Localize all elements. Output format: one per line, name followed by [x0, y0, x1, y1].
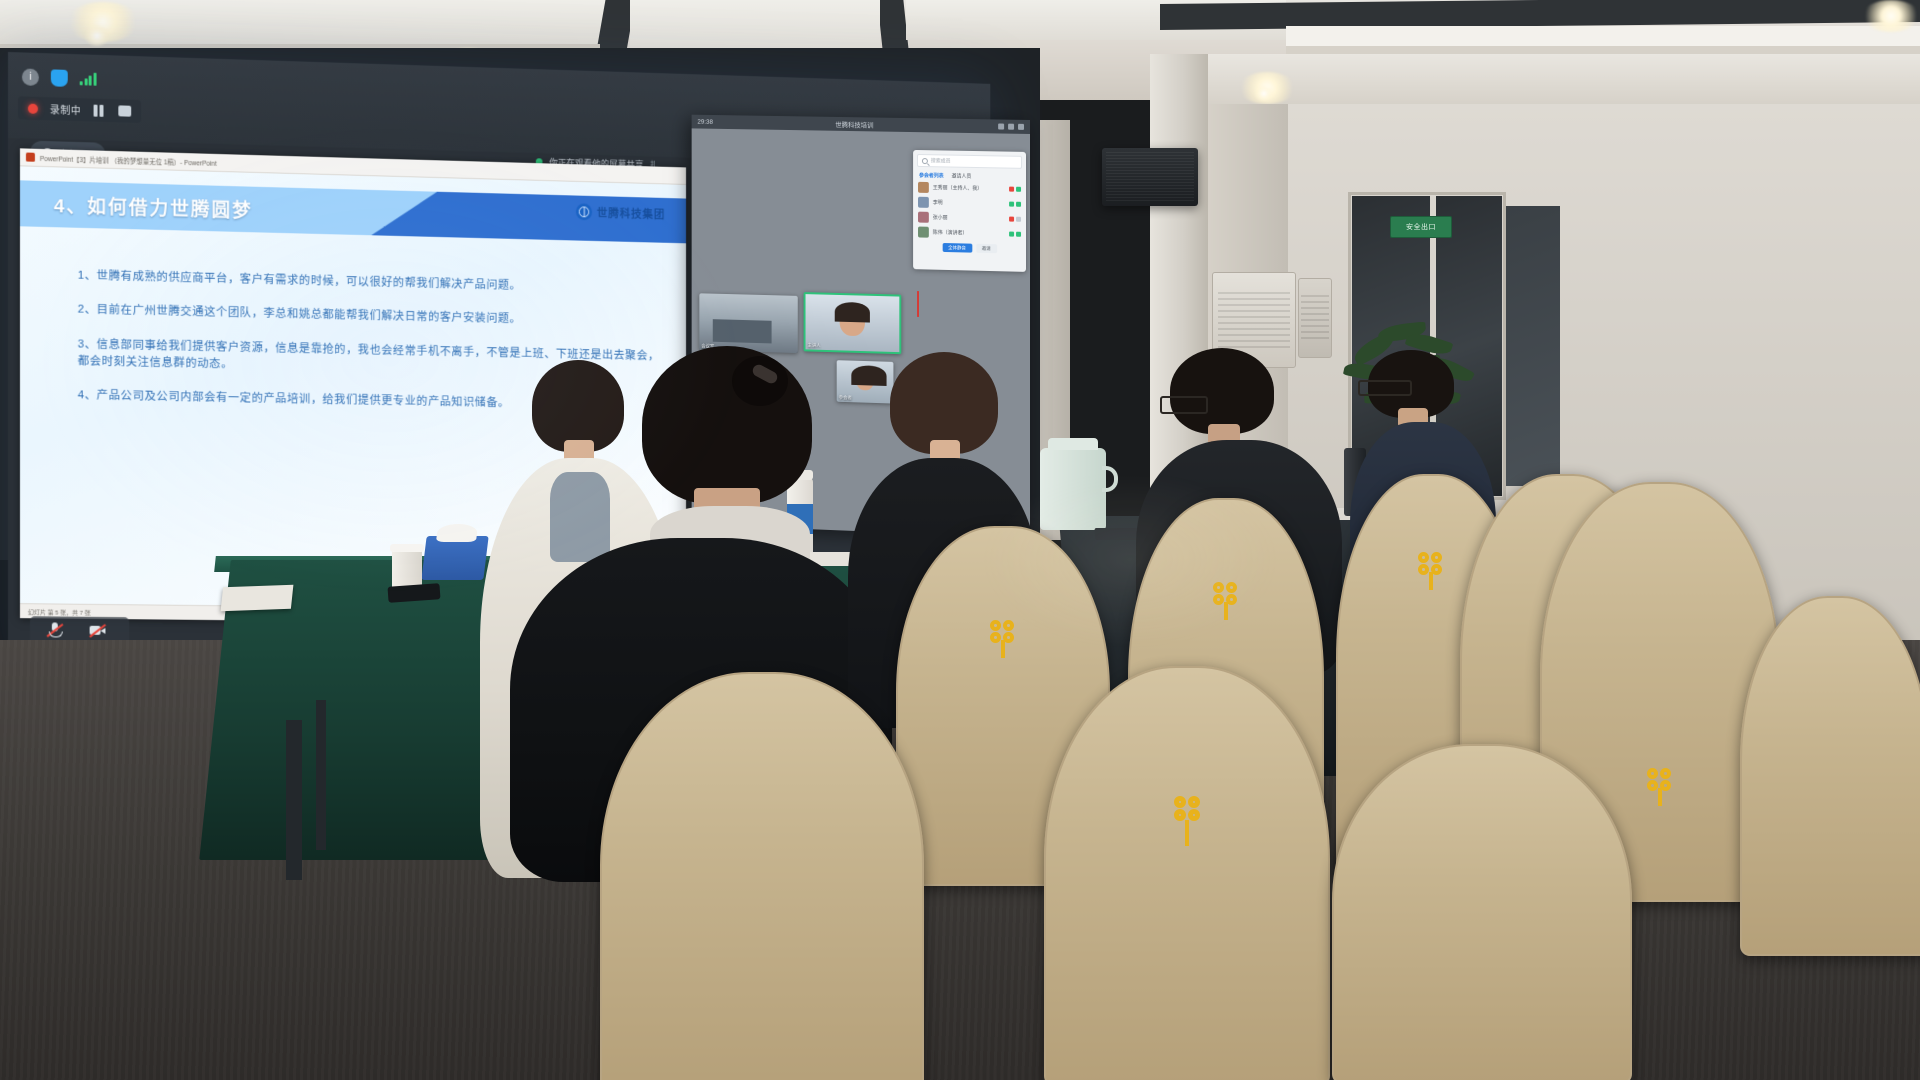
exit-sign-label: 安全出口	[1406, 222, 1436, 232]
participant-name: 李明	[933, 199, 1005, 207]
banquet-chair[interactable]	[1332, 744, 1632, 1080]
wall-speaker	[1102, 148, 1198, 206]
slide-title: 4、如何借力世腾圆梦	[54, 191, 253, 223]
ceiling-downlight	[1862, 0, 1920, 32]
company-logo: 世腾科技集团	[576, 203, 665, 222]
ceiling-beam	[877, 0, 908, 50]
mic-on-icon	[1009, 232, 1014, 237]
mic-muted-icon	[1009, 217, 1014, 222]
meeting-timer: 29:38	[697, 118, 713, 125]
meeting-topic: 世腾科技培训	[835, 119, 873, 130]
ceiling-trim	[1286, 26, 1920, 48]
participant-status-icons	[1009, 202, 1021, 207]
thermos-flask	[1040, 448, 1106, 530]
air-conditioner	[1298, 278, 1332, 358]
conference-room-photo: 安全出口 i 录制中	[0, 0, 1920, 1080]
exit-sign: 安全出口	[1390, 216, 1452, 238]
mic-on-icon	[1009, 202, 1014, 207]
share-border-indicator	[917, 291, 919, 317]
avatar	[918, 227, 929, 238]
slide-counter: 幻灯片 第 5 张，共 7 张	[28, 607, 91, 617]
stop-icon[interactable]	[118, 105, 131, 116]
camera-on-icon	[1016, 232, 1021, 237]
powerpoint-window-title: PowerPoint【3】片培训 （我的梦想量无位 1稿）- PowerPoin…	[40, 152, 217, 167]
slide-bullet: 1、世腾有成熟的供应商平台，客户有需求的时候，可以很好的帮我们解决产品问题。	[78, 268, 662, 299]
speaker-face	[840, 306, 865, 336]
participant-status-icons	[1009, 217, 1021, 222]
globe-icon	[576, 203, 592, 220]
banquet-chair[interactable]	[1740, 596, 1920, 956]
search-input[interactable]: 搜索成员	[917, 154, 1022, 169]
powerpoint-logo-icon	[26, 153, 35, 162]
banquet-chair[interactable]	[600, 672, 924, 1080]
info-icon[interactable]: i	[22, 68, 39, 86]
close-icon[interactable]	[1018, 124, 1024, 130]
mute-all-button[interactable]: 全体静音	[942, 243, 972, 253]
camera-off-icon	[1016, 217, 1021, 222]
tab-invite[interactable]: 邀请人员	[952, 173, 972, 180]
avatar	[918, 197, 929, 208]
search-placeholder: 搜索成员	[931, 157, 951, 164]
recording-label: 录制中	[50, 101, 81, 117]
notebook	[221, 585, 294, 611]
minimize-icon[interactable]	[998, 123, 1004, 129]
participants-actions: 全体静音 邀请	[913, 239, 1026, 257]
pause-icon[interactable]	[93, 104, 106, 116]
avatar	[918, 212, 929, 223]
ceiling-downlight	[84, 26, 110, 46]
table-leg	[286, 720, 302, 880]
signal-icon[interactable]	[80, 72, 98, 86]
glass-door[interactable]	[1506, 206, 1560, 486]
eyeglasses	[1358, 380, 1412, 396]
record-dot-icon	[28, 103, 38, 113]
banquet-chair[interactable]	[1044, 666, 1330, 1080]
search-icon	[922, 158, 928, 164]
participant-name: 王秀丽（主持人、我）	[933, 184, 1005, 192]
hair-bun	[732, 356, 788, 406]
window-controls[interactable]	[998, 123, 1024, 129]
recording-indicator: 录制中	[18, 96, 141, 123]
slide-bullet: 2、目前在广州世腾交通这个团队，李总和姚总都能帮我们解决日常的客户安装问题。	[78, 302, 662, 332]
participant-status-icons	[1009, 232, 1021, 237]
participants-panel[interactable]: 搜索成员 参会者列表 邀请人员 王秀丽（主持人、我） 李明	[913, 150, 1026, 272]
avatar	[918, 182, 929, 193]
invite-button[interactable]: 邀请	[976, 244, 997, 253]
participant-status-icons	[1009, 187, 1021, 192]
ceiling-trim	[1286, 46, 1920, 54]
participant-name: 张小丽	[933, 214, 1005, 223]
table-leg	[316, 700, 326, 850]
camera-icon	[89, 623, 107, 639]
eyeglasses	[1160, 396, 1208, 414]
ceiling-downlight	[1254, 86, 1274, 101]
company-logo-label: 世腾科技集团	[597, 204, 665, 221]
meeting-status-icons: i	[22, 68, 98, 87]
tab-participant-list[interactable]: 参会者列表	[919, 172, 944, 179]
microphone-icon	[46, 622, 64, 638]
participant-name: 陈伟（演讲者）	[933, 229, 1005, 238]
mic-muted-icon	[1009, 187, 1014, 192]
camera-on-icon	[1016, 202, 1021, 207]
camera-on-icon	[1016, 187, 1021, 192]
maximize-icon[interactable]	[1008, 124, 1014, 130]
shield-icon[interactable]	[51, 69, 68, 86]
